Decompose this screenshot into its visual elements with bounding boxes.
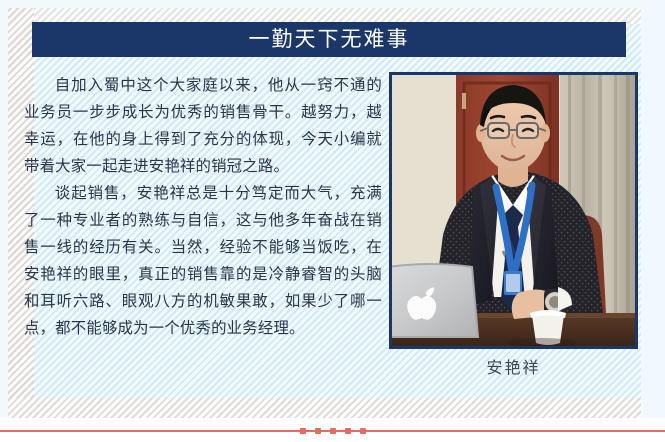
divider-dot [345, 428, 351, 434]
bottom-divider [0, 424, 665, 438]
divider-dot [330, 428, 336, 434]
photo-caption: 安艳祥 [389, 354, 638, 378]
title-banner: 一勤天下无难事 [32, 22, 626, 57]
poster-page: 一勤天下无难事 自加入蜀中这个大家庭以来，他从一窍不通的业务员一步步成长为优秀的… [0, 0, 665, 442]
portrait-photo [389, 72, 638, 349]
paragraph: 谈起销售，安艳祥总是十分笃定而大气，充满了一种专业者的熟练与自信，这与他多年奋战… [24, 180, 382, 342]
divider-dot-group [0, 424, 665, 438]
divider-dot [315, 428, 321, 434]
divider-dot [300, 428, 306, 434]
portrait-photo-image [392, 75, 635, 346]
page-title: 一勤天下无难事 [249, 29, 410, 50]
bottom-stripe-band [8, 398, 657, 418]
right-margin [641, 0, 665, 442]
divider-dot [360, 428, 366, 434]
paragraph: 自加入蜀中这个大家庭以来，他从一窍不通的业务员一步步成长为优秀的销售骨干。越努力… [24, 72, 382, 180]
article-body: 自加入蜀中这个大家庭以来，他从一窍不通的业务员一步步成长为优秀的销售骨干。越努力… [24, 72, 382, 342]
